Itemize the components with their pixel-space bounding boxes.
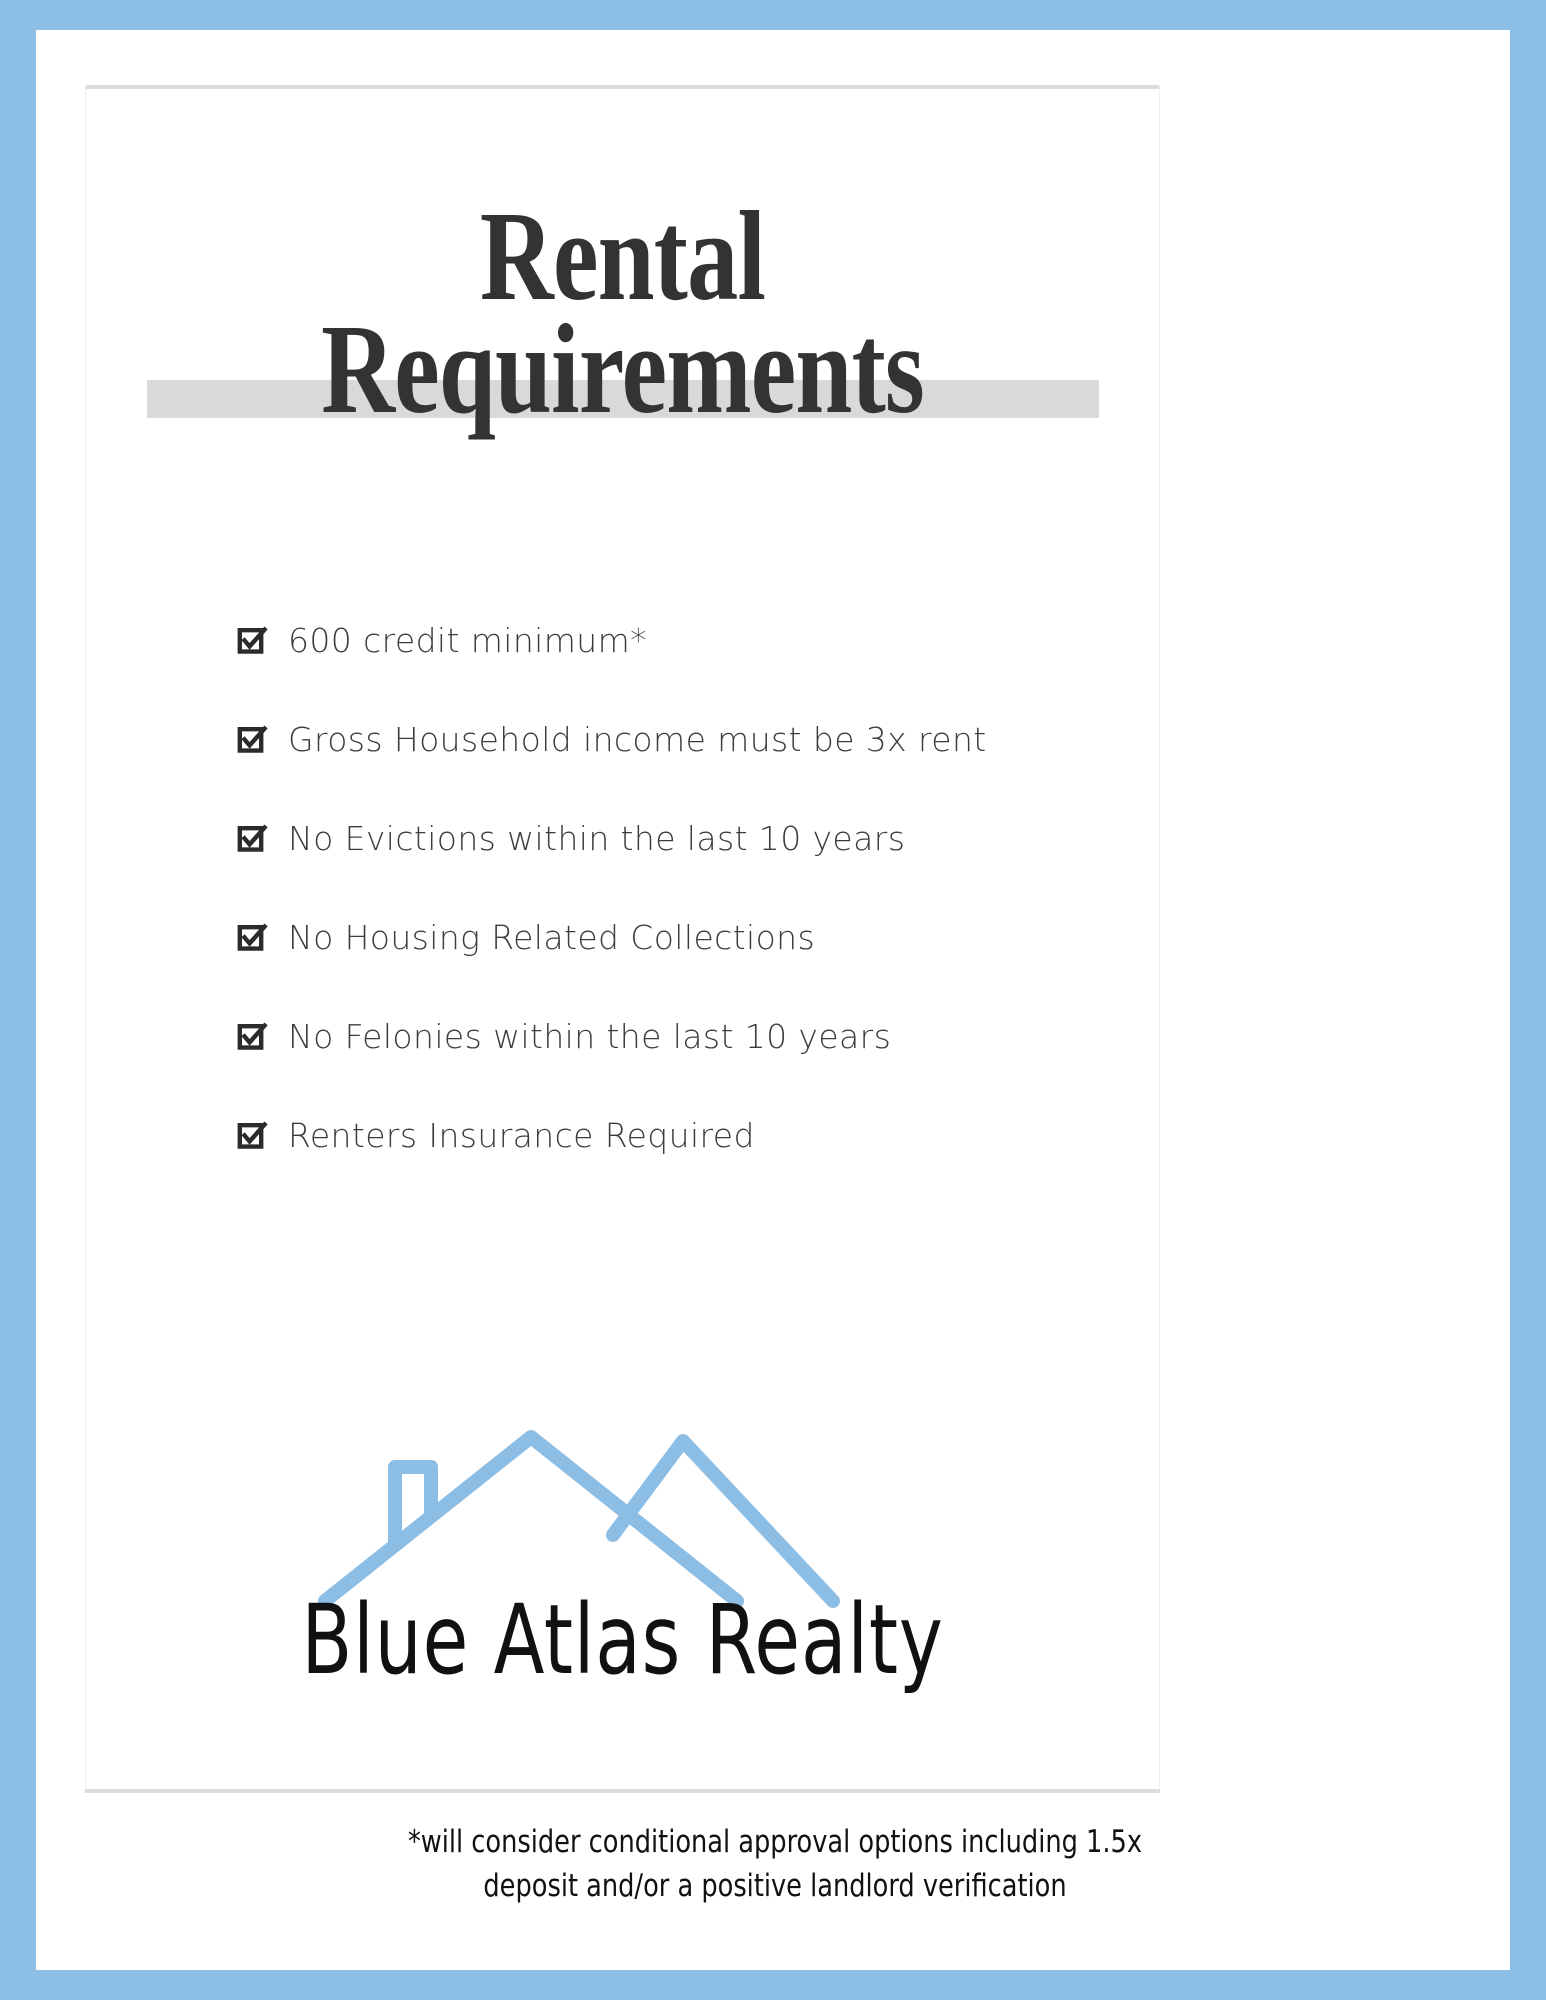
footnote-line-2: deposit and/or a positive landlord verif… [200, 1864, 1350, 1908]
checked-checkbox-icon [237, 822, 268, 855]
list-item: No Evictions within the last 10 years [237, 818, 1117, 858]
title-line-requirements-wrap: Requirements [85, 308, 1160, 431]
page-title: Rental Requirements [85, 195, 1160, 431]
list-item: 600 credit minimum* [237, 620, 1117, 660]
double-roof-house-icon [313, 1415, 933, 1610]
footnote: *will consider conditional approval opti… [200, 1820, 1350, 1908]
rental-requirements-flyer: Rental Requirements 600 credit minimum* [0, 0, 1546, 2000]
checked-checkbox-icon [237, 1020, 268, 1053]
checked-checkbox-icon [237, 723, 268, 756]
list-item: Gross Household income must be 3x rent [237, 719, 1117, 759]
requirements-checklist: 600 credit minimum* Gross Household inco… [237, 620, 1117, 1155]
card-top-divider [85, 85, 1160, 89]
list-item: No Felonies within the last 10 years [237, 1016, 1117, 1056]
checked-checkbox-icon [237, 921, 268, 954]
list-item-label: Gross Household income must be 3x rent [288, 720, 987, 759]
brand-logo: Blue Atlas Realty [85, 1415, 1160, 1688]
list-item-label: Renters Insurance Required [288, 1116, 755, 1155]
title-line-requirements: Requirements [193, 308, 1053, 431]
list-item: No Housing Related Collections [237, 917, 1117, 957]
brand-wordmark: Blue Atlas Realty [160, 1592, 1085, 1688]
list-item: Renters Insurance Required [237, 1115, 1117, 1155]
list-item-label: No Housing Related Collections [288, 918, 815, 957]
checked-checkbox-icon [237, 1119, 268, 1152]
checked-checkbox-icon [237, 624, 268, 657]
list-item-label: No Evictions within the last 10 years [288, 819, 905, 858]
footnote-line-1: *will consider conditional approval opti… [200, 1820, 1350, 1864]
list-item-label: 600 credit minimum* [288, 621, 647, 660]
card-bottom-divider [85, 1789, 1160, 1793]
list-item-label: No Felonies within the last 10 years [288, 1017, 891, 1056]
